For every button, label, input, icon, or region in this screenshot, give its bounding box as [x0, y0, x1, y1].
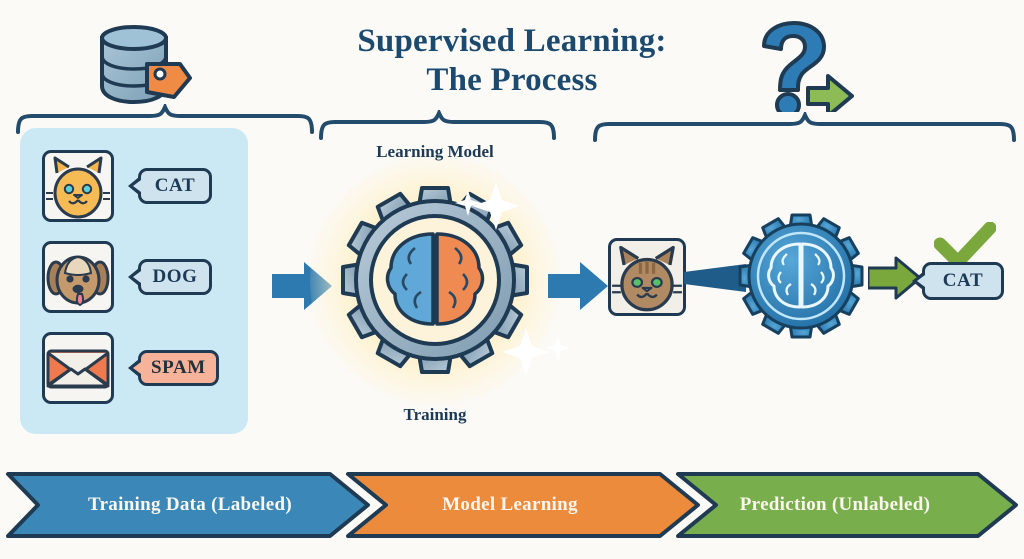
sparkle-icon	[500, 322, 570, 384]
learning-model-caption: Learning Model	[320, 142, 550, 162]
sparkle-icon	[452, 178, 522, 240]
brace-prediction	[592, 112, 1018, 142]
banner-label-model: Model Learning	[360, 466, 660, 544]
training-sample-dog[interactable]: DOG	[42, 241, 212, 313]
brace-model	[318, 110, 558, 140]
title-line-1: Supervised Learning:	[357, 23, 666, 59]
banner-label-prediction: Prediction (Unlabeled)	[680, 466, 990, 544]
label-tag-cat[interactable]: CAT	[138, 168, 212, 204]
title-line-2: The Process	[0, 61, 1024, 100]
prediction-result-tag[interactable]: CAT	[922, 262, 1004, 300]
prediction-result-text: CAT	[943, 270, 984, 292]
label-tag-dog[interactable]: DOG	[138, 259, 212, 295]
page-title: Supervised Learning: The Process	[0, 22, 1024, 100]
label-tag-text: CAT	[155, 175, 196, 197]
email-envelope	[42, 332, 114, 404]
training-caption: Training	[320, 405, 550, 425]
prediction-gear-with-brain-icon	[738, 213, 864, 339]
dog-photo	[42, 241, 114, 313]
training-sample-spam[interactable]: SPAM	[42, 332, 219, 404]
arrow-model-to-prediction	[548, 258, 610, 314]
cat-photo	[42, 150, 114, 222]
label-tag-text: DOG	[152, 266, 197, 288]
diagram-canvas: Supervised Learning: The Process CAT	[0, 0, 1024, 559]
training-sample-cat[interactable]: CAT	[42, 150, 212, 222]
label-tag-spam[interactable]: SPAM	[138, 350, 219, 386]
banner-label-training: Training Data (Labeled)	[40, 466, 340, 544]
label-tag-text: SPAM	[151, 357, 206, 379]
unlabeled-cat-photo	[608, 238, 686, 316]
